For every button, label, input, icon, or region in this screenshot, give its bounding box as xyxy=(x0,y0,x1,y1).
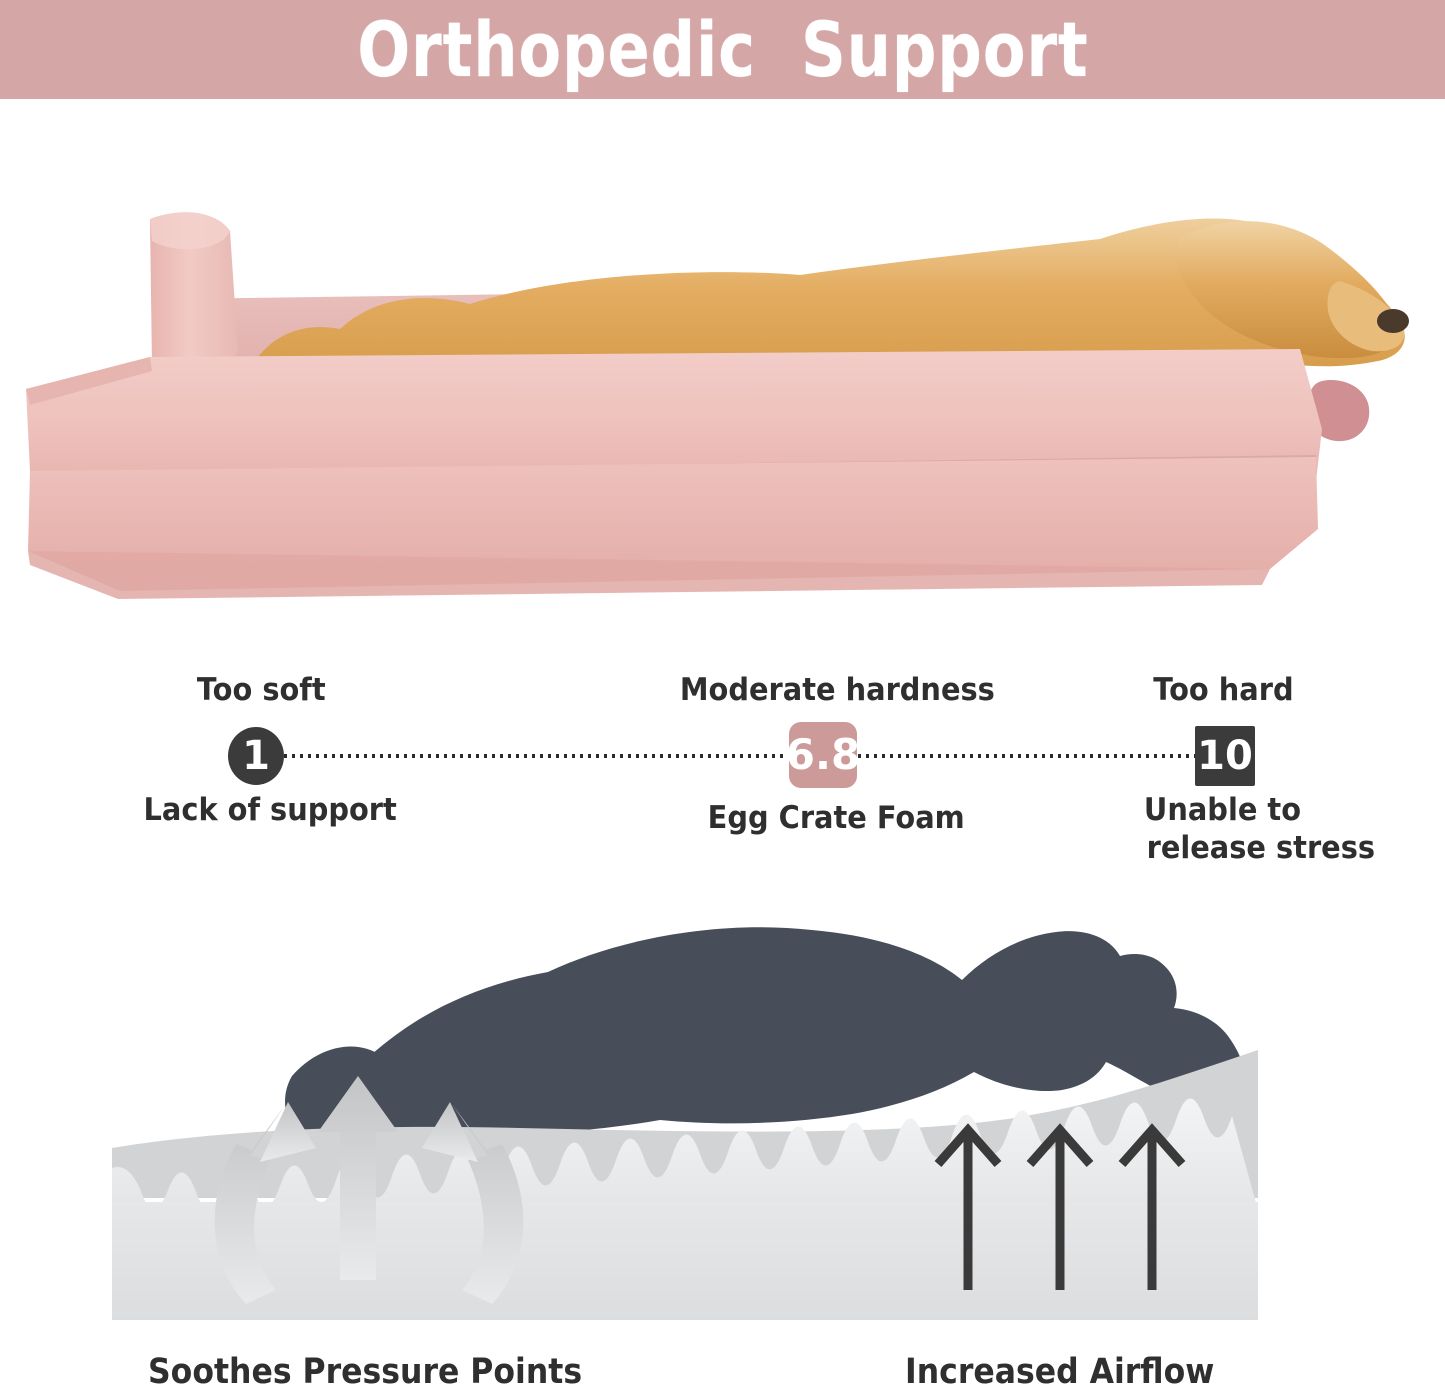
product-photo xyxy=(0,99,1445,644)
scale-connector-right xyxy=(858,754,1196,758)
scale-connector-left xyxy=(284,754,788,758)
header-banner: Orthopedic Support xyxy=(0,0,1445,99)
scale-right-bottom-label-line2: release stress xyxy=(1147,830,1375,866)
scale-right-top-label: Too hard xyxy=(1153,672,1293,708)
foam-diagram-illustration xyxy=(0,880,1445,1345)
scale-middle-badge: 6.8 xyxy=(789,722,857,788)
scale-right-bottom-label-line1: Unable to xyxy=(1144,792,1301,828)
scale-left-badge: 1 xyxy=(228,727,284,785)
product-photo-illustration xyxy=(0,99,1445,644)
caption-increased-airflow: Increased Airflow xyxy=(905,1352,1214,1392)
scale-right-badge: 10 xyxy=(1195,726,1255,786)
scale-left-top-label: Too soft xyxy=(197,672,326,708)
foam-diagram xyxy=(0,880,1445,1345)
infographic-page: Orthopedic Support xyxy=(0,0,1445,1397)
foam-base-slab xyxy=(112,1202,1258,1320)
scale-middle-top-label: Moderate hardness xyxy=(680,672,995,708)
page-title: Orthopedic Support xyxy=(357,10,1088,90)
scale-left-bottom-label: Lack of support xyxy=(144,792,397,828)
scale-middle-bottom-label: Egg Crate Foam xyxy=(708,800,965,836)
hardness-scale: Too soft 1 Lack of support Moderate hard… xyxy=(0,650,1445,880)
caption-soothes-pressure-points: Soothes Pressure Points xyxy=(148,1352,582,1392)
dog-nose xyxy=(1377,309,1409,333)
